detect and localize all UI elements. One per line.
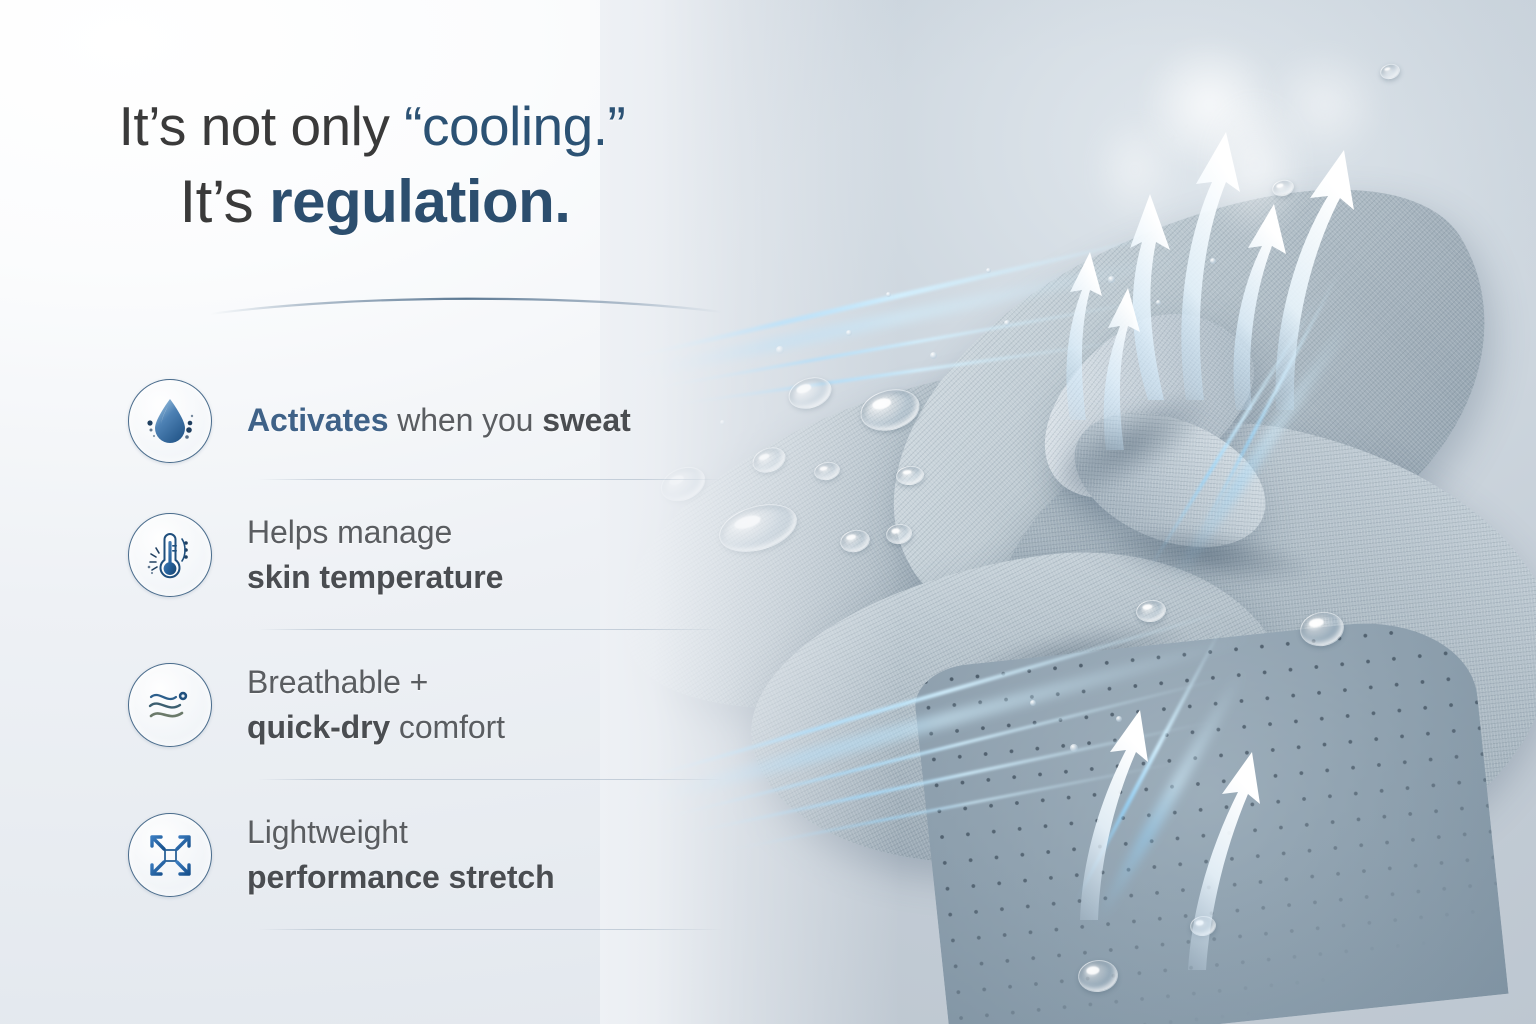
feature-label: Activates when you sweat bbox=[247, 398, 631, 443]
feature-emph-quick-dry: quick-dry bbox=[247, 709, 390, 745]
arc-divider bbox=[206, 286, 726, 326]
headline-line-1-accent: “cooling.” bbox=[404, 95, 625, 157]
headline-line-1: It’s not only “cooling.” bbox=[0, 98, 760, 156]
feature-separator bbox=[258, 929, 723, 930]
feature-trailing-text: comfort bbox=[390, 709, 505, 745]
headline-block: It’s not only “cooling.” It’s regulation… bbox=[0, 98, 760, 233]
feature-line-1: Breathable + bbox=[247, 660, 505, 705]
poster-canvas: It’s not only “cooling.” It’s regulation… bbox=[0, 0, 1536, 1024]
headline-line-2-accent: regulation. bbox=[269, 168, 570, 235]
feature-label: Lightweight performance stretch bbox=[247, 810, 555, 901]
thermometer-icon bbox=[128, 513, 212, 597]
feature-line-2: skin temperature bbox=[247, 555, 503, 600]
airflow-waves-icon bbox=[128, 663, 212, 747]
feature-emph-activates: Activates bbox=[247, 402, 388, 438]
feature-list: Activates when you sweat bbox=[128, 362, 718, 930]
headline-line-1-plain: It’s not only bbox=[119, 95, 404, 157]
feature-line-1: Helps manage bbox=[247, 510, 503, 555]
feature-label: Breathable + quick-dry comfort bbox=[247, 660, 505, 751]
water-droplet-icon bbox=[128, 379, 212, 463]
feature-item-breathable[interactable]: Breathable + quick-dry comfort bbox=[128, 630, 718, 780]
headline-line-2-plain: It’s bbox=[180, 168, 270, 235]
feature-line-2: quick-dry comfort bbox=[247, 705, 505, 750]
feature-mid-text: when you bbox=[388, 402, 542, 438]
feature-line-1: Lightweight bbox=[247, 810, 555, 855]
headline-line-2: It’s regulation. bbox=[0, 170, 760, 233]
feature-line-2: performance stretch bbox=[247, 855, 555, 900]
feature-label: Helps manage skin temperature bbox=[247, 510, 503, 601]
content-panel: It’s not only “cooling.” It’s regulation… bbox=[0, 0, 760, 1024]
feature-item-stretch[interactable]: Lightweight performance stretch bbox=[128, 780, 718, 930]
four-way-stretch-arrows-icon bbox=[128, 813, 212, 897]
feature-item-activates[interactable]: Activates when you sweat bbox=[128, 362, 718, 480]
feature-emph-sweat: sweat bbox=[542, 402, 630, 438]
feature-item-skin-temperature[interactable]: Helps manage skin temperature bbox=[128, 480, 718, 630]
